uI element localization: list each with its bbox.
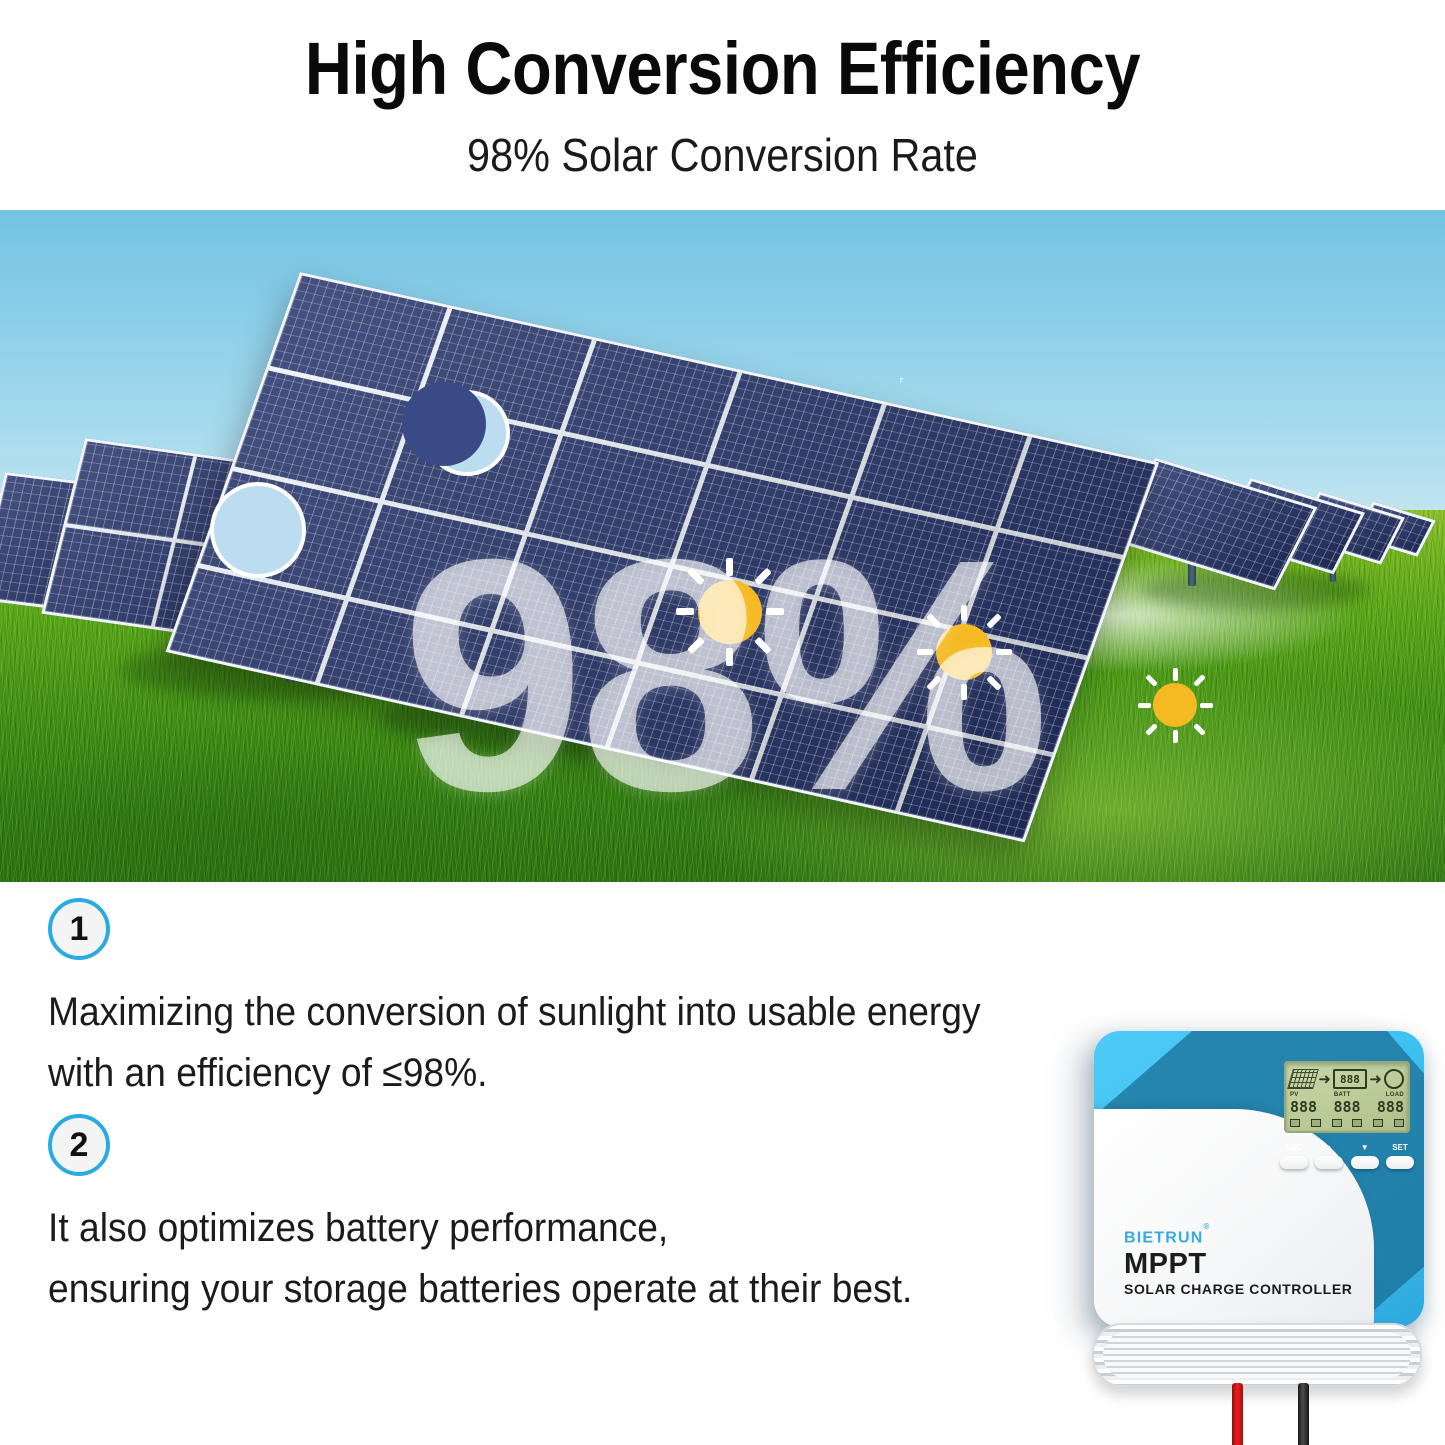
heatsink-fins bbox=[1092, 1323, 1422, 1387]
negative-cable bbox=[1298, 1383, 1309, 1445]
esc-button-label: ESC bbox=[1280, 1143, 1308, 1153]
buttons bbox=[1280, 1156, 1414, 1169]
hero-photo: 98% bbox=[0, 210, 1445, 882]
feature-text: Maximizing the conversion of sunlight in… bbox=[48, 982, 981, 1104]
feature-text: It also optimizes battery performance, e… bbox=[48, 1198, 912, 1320]
arrow-right-icon: ➜ bbox=[1369, 1072, 1382, 1087]
status-chip-icon bbox=[1311, 1119, 1321, 1127]
sun-icon bbox=[920, 608, 1008, 696]
status-chip-icon bbox=[1373, 1119, 1383, 1127]
crescent-moon-icon bbox=[424, 390, 510, 476]
up-button[interactable] bbox=[1315, 1156, 1343, 1169]
lcd-display: ➜ 888 ➜ PV BATT LOAD 888 888 888 bbox=[1284, 1061, 1410, 1133]
arrow-right-icon: ➜ bbox=[1318, 1072, 1331, 1087]
button-labels: ESC ▲ ▼ SET bbox=[1280, 1143, 1414, 1153]
trademark-symbol: ® bbox=[1204, 1222, 1211, 1231]
feature-text-line: It also optimizes battery performance, bbox=[48, 1198, 912, 1259]
feature-item: 1 Maximizing the conversion of sunlight … bbox=[48, 898, 1051, 1104]
lcd-batt-value: 888 bbox=[1333, 1100, 1360, 1115]
product-feature-page: High Conversion Efficiency 98% Solar Con… bbox=[0, 0, 1445, 1445]
product-device: ➜ 888 ➜ PV BATT LOAD 888 888 888 bbox=[1068, 1023, 1445, 1445]
solar-panel-icon bbox=[1287, 1069, 1319, 1089]
down-button[interactable] bbox=[1351, 1156, 1379, 1169]
lcd-values-row: 888 888 888 bbox=[1290, 1100, 1404, 1115]
lcd-pv-value: 888 bbox=[1290, 1100, 1317, 1115]
product-model: MPPT bbox=[1124, 1247, 1352, 1281]
down-button-label: ▼ bbox=[1351, 1143, 1379, 1153]
battery-icon: 888 bbox=[1333, 1069, 1367, 1089]
button-row: ESC ▲ ▼ SET bbox=[1280, 1143, 1414, 1169]
device-body: ➜ 888 ➜ PV BATT LOAD 888 888 888 bbox=[1094, 1031, 1424, 1327]
positive-cable bbox=[1232, 1383, 1243, 1445]
brand-block: BIETRUN® MPPT SOLAR CHARGE CONTROLLER bbox=[1124, 1229, 1352, 1297]
sun-icon bbox=[1140, 670, 1210, 740]
feature-text-line: ensuring your storage batteries operate … bbox=[48, 1259, 912, 1320]
header-section: High Conversion Efficiency 98% Solar Con… bbox=[0, 0, 1445, 210]
status-chip-icon bbox=[1332, 1119, 1342, 1127]
esc-button[interactable] bbox=[1280, 1156, 1308, 1169]
brand-logo: BIETRUN® bbox=[1124, 1229, 1352, 1247]
status-chip-icon bbox=[1290, 1119, 1300, 1127]
lcd-flow-row: ➜ 888 ➜ bbox=[1290, 1066, 1404, 1092]
feature-item: 2 It also optimizes battery performance,… bbox=[48, 1114, 977, 1320]
up-button-label: ▲ bbox=[1315, 1143, 1343, 1153]
set-button[interactable] bbox=[1386, 1156, 1414, 1169]
product-subtitle: SOLAR CHARGE CONTROLLER bbox=[1124, 1281, 1352, 1297]
status-chip-icon bbox=[1352, 1119, 1362, 1127]
feature-text-line: Maximizing the conversion of sunlight in… bbox=[48, 982, 981, 1043]
brand-logo-text: BIETRUN bbox=[1124, 1229, 1204, 1246]
feature-number-badge: 2 bbox=[48, 1114, 110, 1176]
feature-text-line: with an efficiency of ≤98%. bbox=[48, 1043, 981, 1104]
page-subtitle: 98% Solar Conversion Rate bbox=[72, 128, 1373, 182]
page-title: High Conversion Efficiency bbox=[87, 26, 1359, 111]
lcd-status-row bbox=[1290, 1118, 1404, 1128]
lightbulb-icon bbox=[1384, 1069, 1404, 1089]
sun-icon bbox=[680, 562, 780, 662]
lcd-load-value: 888 bbox=[1377, 1100, 1404, 1115]
status-chip-icon bbox=[1394, 1119, 1404, 1127]
set-button-label: SET bbox=[1386, 1143, 1414, 1153]
feature-number-badge: 1 bbox=[48, 898, 110, 960]
full-moon-icon bbox=[210, 482, 306, 578]
